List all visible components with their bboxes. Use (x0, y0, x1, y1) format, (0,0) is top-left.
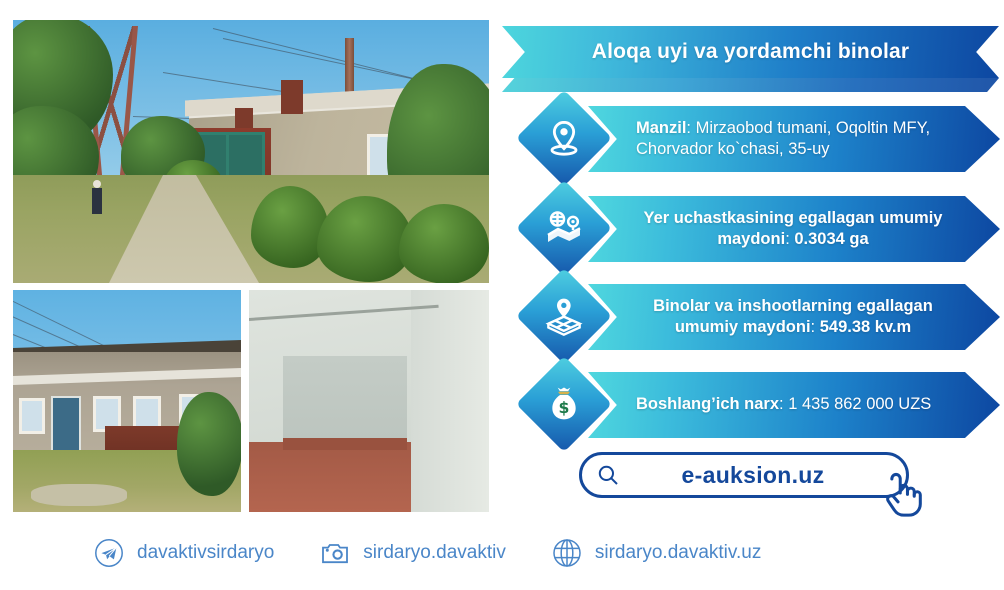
footer-item-telegram[interactable]: davaktivsirdaryo (94, 538, 274, 568)
brick-floor (249, 442, 411, 512)
chimney (281, 80, 303, 114)
footer-label-instagram: sirdaryo.davaktiv (363, 542, 506, 564)
svg-text:$: $ (559, 398, 570, 417)
e-auksion-search-button[interactable]: e-auksion.uz (579, 452, 909, 498)
page-title-banner: Aloqa uyi va yordamchi binolar (502, 26, 999, 78)
shrub (317, 196, 413, 282)
land-plot-map-icon (530, 194, 598, 262)
footer-item-website[interactable]: sirdaryo.davaktiv.uz (552, 538, 762, 568)
photo-interior-room-view (249, 290, 489, 512)
telegram-icon (94, 538, 124, 568)
info-row-text: Binolar va inshootlarning egallagan umum… (588, 296, 1000, 338)
info-row-text: Yer uchastkasining egallagan umumiy mayd… (588, 208, 1000, 250)
footer-label-telegram: davaktivsirdaryo (137, 542, 274, 564)
banner-fold-decoration (502, 78, 999, 92)
info-bar: Yer uchastkasining egallagan umumiy mayd… (588, 196, 1000, 262)
info-separator: : (785, 230, 794, 248)
info-row-building-area: Binolar va inshootlarning egallagan umum… (502, 278, 1001, 356)
info-bar: Binolar va inshootlarning egallagan umum… (588, 284, 1000, 350)
entrance-door (51, 396, 81, 458)
photo-exterior-front-view (13, 20, 489, 283)
info-separator: : (686, 119, 695, 137)
info-value: 1 435 862 000 UZS (788, 395, 931, 413)
info-value: 549.38 kv.m (820, 318, 911, 336)
location-pin-icon (530, 104, 598, 172)
info-label: Manzil (636, 119, 686, 137)
photo-exterior-facade-view (13, 290, 241, 512)
globe-website-icon (552, 538, 582, 568)
info-row-starting-price: $ Boshlang’ich narx: 1 435 862 000 UZS (502, 366, 1001, 444)
chimney (235, 108, 253, 130)
search-button-label: e-auksion.uz (620, 462, 906, 489)
info-row-text: Boshlang’ich narx: 1 435 862 000 UZS (588, 394, 1000, 415)
info-row-address: Manzil: Mirzaobod tumani, Oqoltin MFY, C… (502, 100, 1001, 178)
page-title: Aloqa uyi va yordamchi binolar (592, 40, 910, 64)
hand-pointer-icon (872, 465, 928, 521)
poster-canvas: Aloqa uyi va yordamchi binolar Manzil: M… (0, 0, 1004, 590)
footer-label-website: sirdaryo.davaktiv.uz (595, 542, 762, 564)
person (91, 180, 103, 214)
footer-social-links: davaktivsirdaryo sirdaryo.davaktiv (0, 524, 1004, 582)
info-label: Boshlang’ich narx (636, 395, 779, 413)
info-separator: : (779, 395, 788, 413)
dirt-patch (31, 484, 127, 506)
info-panel: Aloqa uyi va yordamchi binolar Manzil: M… (497, 0, 1004, 590)
shrub (251, 186, 329, 268)
tree (177, 392, 241, 496)
info-value: 0.3034 ga (794, 230, 868, 248)
info-row-land-area: Yer uchastkasining egallagan umumiy mayd… (502, 190, 1001, 268)
info-row-text: Manzil: Mirzaobod tumani, Oqoltin MFY, C… (588, 118, 1000, 160)
building-area-icon (530, 282, 598, 350)
info-separator: : (811, 318, 820, 336)
brick-floor-inner (283, 438, 407, 450)
window (19, 398, 45, 434)
footer-item-instagram[interactable]: sirdaryo.davaktiv (320, 538, 506, 568)
search-magnifier-icon (596, 463, 620, 487)
money-bag-icon: $ (530, 370, 598, 438)
shrub (399, 204, 489, 283)
info-bar: Boshlang’ich narx: 1 435 862 000 UZS (588, 372, 1000, 438)
camera-instagram-icon (320, 538, 350, 568)
info-bar: Manzil: Mirzaobod tumani, Oqoltin MFY, C… (588, 106, 1000, 172)
interior-wall-right (411, 290, 489, 512)
